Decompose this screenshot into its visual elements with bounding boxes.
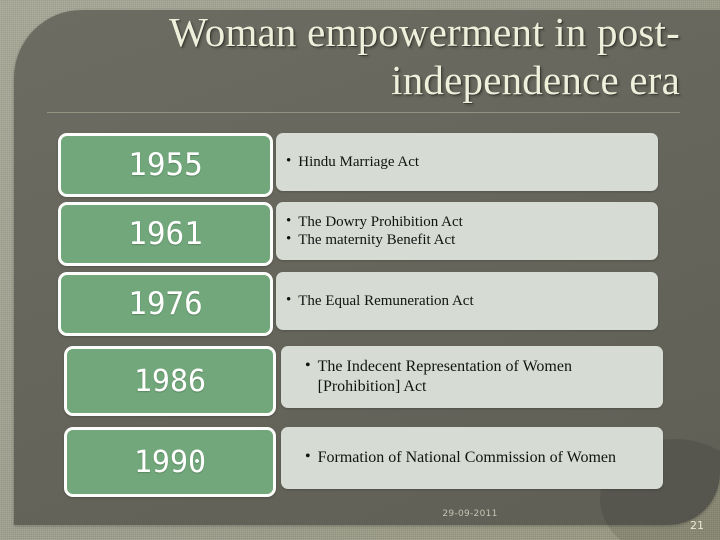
year-label: 1986 [134,364,206,399]
year-label: 1955 [128,147,203,183]
year-badge-1955[interactable]: 1955 [58,133,273,197]
year-badge-1986[interactable]: 1986 [64,346,276,416]
list-item: • The Dowry Prohibition Act [286,213,648,231]
slide-number: 21 [690,519,712,532]
list-item: • Formation of National Commission of Wo… [305,448,653,468]
list-item: • The maternity Benefit Act [286,231,648,249]
page-title: Woman empowerment in post- independence … [60,8,680,104]
content-box-1990[interactable]: • Formation of National Commission of Wo… [281,427,663,489]
year-label: 1976 [128,286,203,322]
content-box-1955[interactable]: • Hindu Marriage Act [276,133,658,191]
slide-canvas: Woman empowerment in post- independence … [0,0,720,540]
bullet-icon: • [305,448,311,466]
bullet-icon: • [286,153,291,170]
title-divider [47,112,680,113]
timeline-row: 1986 • The Indecent Representation of Wo… [64,346,663,416]
year-label: 1961 [128,216,203,252]
content-box-1986[interactable]: • The Indecent Representation of Women [… [281,346,663,408]
page-title-line-2: independence era [391,57,680,103]
timeline-row: 1955 • Hindu Marriage Act [58,133,658,197]
bullet-icon: • [286,292,291,309]
footer-date: 29-09-2011 [390,509,550,519]
list-item: • The Indecent Representation of Women [… [305,357,653,396]
bullet-icon: • [286,231,291,248]
timeline-row: 1961 • The Dowry Prohibition Act • The m… [58,202,658,266]
list-item: • Hindu Marriage Act [286,153,648,171]
timeline-row: 1990 • Formation of National Commission … [64,427,663,497]
page-title-line-1: Woman empowerment in post- [169,9,680,55]
year-label: 1990 [134,445,206,480]
year-badge-1990[interactable]: 1990 [64,427,276,497]
content-box-1961[interactable]: • The Dowry Prohibition Act • The matern… [276,202,658,260]
year-badge-1976[interactable]: 1976 [58,272,273,336]
list-item: • The Equal Remuneration Act [286,292,648,310]
timeline-row: 1976 • The Equal Remuneration Act [58,272,658,336]
bullet-icon: • [305,357,311,375]
bullet-icon: • [286,213,291,230]
content-box-1976[interactable]: • The Equal Remuneration Act [276,272,658,330]
year-badge-1961[interactable]: 1961 [58,202,273,266]
